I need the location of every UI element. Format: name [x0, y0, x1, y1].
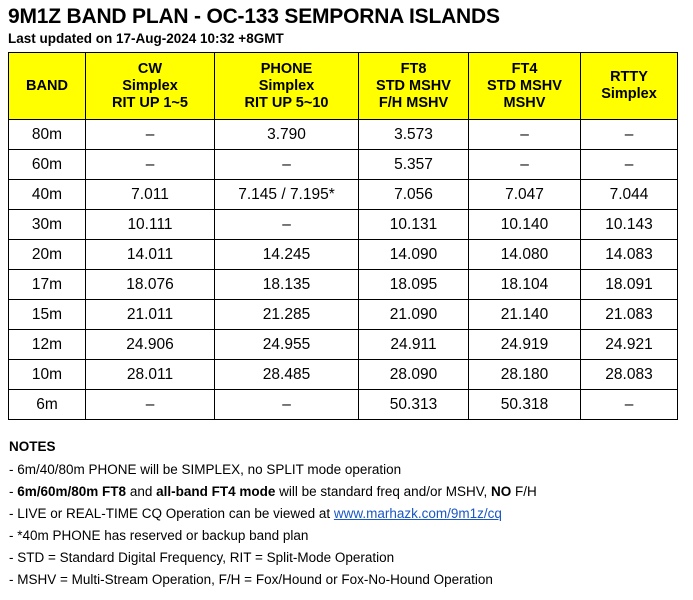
table-row: 40m 7.011 7.145 / 7.195* 7.056 7.047 7.0…: [9, 180, 678, 210]
cell-band: 30m: [9, 210, 86, 240]
cell-ft4: –: [469, 120, 581, 150]
cell-rtty: –: [581, 150, 678, 180]
column-header-phone: PHONE Simplex RIT UP 5~10: [215, 53, 359, 120]
cell-rtty: 24.921: [581, 330, 678, 360]
cell-cw: 18.076: [86, 270, 215, 300]
note-tail: F/H: [511, 484, 537, 499]
cell-ft8: 50.313: [359, 390, 469, 420]
column-header-ft8: FT8 STD MSHV F/H MSHV: [359, 53, 469, 120]
cell-phone: –: [215, 210, 359, 240]
cell-phone: –: [215, 150, 359, 180]
cell-ft8: 28.090: [359, 360, 469, 390]
band-plan-page: 9M1Z BAND PLAN - OC-133 SEMPORNA ISLANDS…: [0, 0, 693, 600]
cell-ft4: 21.140: [469, 300, 581, 330]
table-row: 10m 28.011 28.485 28.090 28.180 28.083: [9, 360, 678, 390]
cell-ft4: 50.318: [469, 390, 581, 420]
table-row: 17m 18.076 18.135 18.095 18.104 18.091: [9, 270, 678, 300]
cell-band: 60m: [9, 150, 86, 180]
cell-cw: 28.011: [86, 360, 215, 390]
header-line-1: PHONE: [215, 61, 358, 78]
header-line-3: MSHV: [469, 95, 580, 112]
cell-ft8: 21.090: [359, 300, 469, 330]
cell-ft8: 7.056: [359, 180, 469, 210]
cell-ft8: 5.357: [359, 150, 469, 180]
cell-band: 12m: [9, 330, 86, 360]
note-bold-no: NO: [491, 484, 511, 499]
cell-ft4: 7.047: [469, 180, 581, 210]
header-line-1: FT8: [359, 61, 468, 78]
header-line-2: STD MSHV: [359, 78, 468, 95]
note-item-40m-phone: - *40m PHONE has reserved or backup band…: [9, 525, 685, 547]
cell-rtty: –: [581, 120, 678, 150]
cell-band: 80m: [9, 120, 86, 150]
band-plan-table: BAND CW Simplex RIT UP 1~5 PHONE Simplex…: [8, 52, 678, 420]
cell-cw: 7.011: [86, 180, 215, 210]
cell-band: 10m: [9, 360, 86, 390]
cell-cw: –: [86, 150, 215, 180]
column-header-cw: CW Simplex RIT UP 1~5: [86, 53, 215, 120]
header-row: BAND CW Simplex RIT UP 1~5 PHONE Simplex…: [9, 53, 678, 120]
header-line-1: BAND: [9, 78, 85, 95]
cell-phone: 7.145 / 7.195*: [215, 180, 359, 210]
note-item-ft8-ft4: - 6m/60m/80m FT8 and all-band FT4 mode w…: [9, 481, 685, 503]
header-line-1: RTTY: [581, 69, 677, 86]
cell-ft4: 28.180: [469, 360, 581, 390]
cell-ft8: 3.573: [359, 120, 469, 150]
note-item-live-cq: - LIVE or REAL-TIME CQ Operation can be …: [9, 503, 685, 525]
header-line-2: Simplex: [215, 78, 358, 95]
cell-phone: 24.955: [215, 330, 359, 360]
last-updated-text: Last updated on 17-Aug-2024 10:32 +8GMT: [8, 31, 685, 47]
note-bold-bands: 6m/60m/80m FT8: [17, 484, 126, 499]
cell-ft8: 10.131: [359, 210, 469, 240]
cell-ft4: 24.919: [469, 330, 581, 360]
note-bold-ft4: all-band FT4 mode: [156, 484, 275, 499]
table-row: 20m 14.011 14.245 14.090 14.080 14.083: [9, 240, 678, 270]
table-body: 80m – 3.790 3.573 – – 60m – – 5.357 – – …: [9, 120, 678, 420]
cell-phone: –: [215, 390, 359, 420]
cell-rtty: 21.083: [581, 300, 678, 330]
column-header-ft4: FT4 STD MSHV MSHV: [469, 53, 581, 120]
table-row: 15m 21.011 21.285 21.090 21.140 21.083: [9, 300, 678, 330]
cell-phone: 18.135: [215, 270, 359, 300]
page-title: 9M1Z BAND PLAN - OC-133 SEMPORNA ISLANDS: [8, 4, 685, 30]
notes-section: NOTES - 6m/40/80m PHONE will be SIMPLEX,…: [8, 438, 685, 591]
header-line-2: Simplex: [581, 86, 677, 103]
cq-page-link[interactable]: www.marhazk.com/9m1z/cq: [334, 506, 502, 521]
header-line-3: RIT UP 1~5: [86, 95, 214, 112]
cell-cw: –: [86, 120, 215, 150]
cell-ft8: 18.095: [359, 270, 469, 300]
table-header: BAND CW Simplex RIT UP 1~5 PHONE Simplex…: [9, 53, 678, 120]
table-row: 30m 10.111 – 10.131 10.140 10.143: [9, 210, 678, 240]
cell-phone: 28.485: [215, 360, 359, 390]
cell-band: 20m: [9, 240, 86, 270]
header-line-3: F/H MSHV: [359, 95, 468, 112]
cell-rtty: 14.083: [581, 240, 678, 270]
cell-ft8: 24.911: [359, 330, 469, 360]
cell-band: 17m: [9, 270, 86, 300]
notes-heading: NOTES: [9, 438, 685, 456]
cell-ft4: 10.140: [469, 210, 581, 240]
cell-band: 15m: [9, 300, 86, 330]
header-line-3: RIT UP 5~10: [215, 95, 358, 112]
note-mid-1: and: [126, 484, 156, 499]
table-row: 80m – 3.790 3.573 – –: [9, 120, 678, 150]
cell-rtty: 28.083: [581, 360, 678, 390]
note-mid-2: will be standard freq and/or MSHV,: [275, 484, 491, 499]
column-header-rtty: RTTY Simplex: [581, 53, 678, 120]
header-line-2: Simplex: [86, 78, 214, 95]
cell-phone: 14.245: [215, 240, 359, 270]
cell-cw: 21.011: [86, 300, 215, 330]
header-line-1: FT4: [469, 61, 580, 78]
header-line-2: STD MSHV: [469, 78, 580, 95]
cell-cw: 24.906: [86, 330, 215, 360]
note-item-simplex: - 6m/40/80m PHONE will be SIMPLEX, no SP…: [9, 459, 685, 481]
cell-rtty: –: [581, 390, 678, 420]
cell-cw: –: [86, 390, 215, 420]
cell-rtty: 18.091: [581, 270, 678, 300]
cell-ft4: –: [469, 150, 581, 180]
cell-band: 40m: [9, 180, 86, 210]
note-dash: -: [9, 484, 17, 499]
note-item-std-rit: - STD = Standard Digital Frequency, RIT …: [9, 547, 685, 569]
cell-phone: 3.790: [215, 120, 359, 150]
cell-ft4: 14.080: [469, 240, 581, 270]
cell-cw: 14.011: [86, 240, 215, 270]
cell-cw: 10.111: [86, 210, 215, 240]
column-header-band: BAND: [9, 53, 86, 120]
cell-ft4: 18.104: [469, 270, 581, 300]
table-row: 6m – – 50.313 50.318 –: [9, 390, 678, 420]
cell-rtty: 10.143: [581, 210, 678, 240]
header-line-1: CW: [86, 61, 214, 78]
cell-ft8: 14.090: [359, 240, 469, 270]
cell-band: 6m: [9, 390, 86, 420]
cell-rtty: 7.044: [581, 180, 678, 210]
cell-phone: 21.285: [215, 300, 359, 330]
note-item-mshv-fh: - MSHV = Multi-Stream Operation, F/H = F…: [9, 569, 685, 591]
table-row: 60m – – 5.357 – –: [9, 150, 678, 180]
table-row: 12m 24.906 24.955 24.911 24.919 24.921: [9, 330, 678, 360]
note-text: - LIVE or REAL-TIME CQ Operation can be …: [9, 506, 334, 521]
